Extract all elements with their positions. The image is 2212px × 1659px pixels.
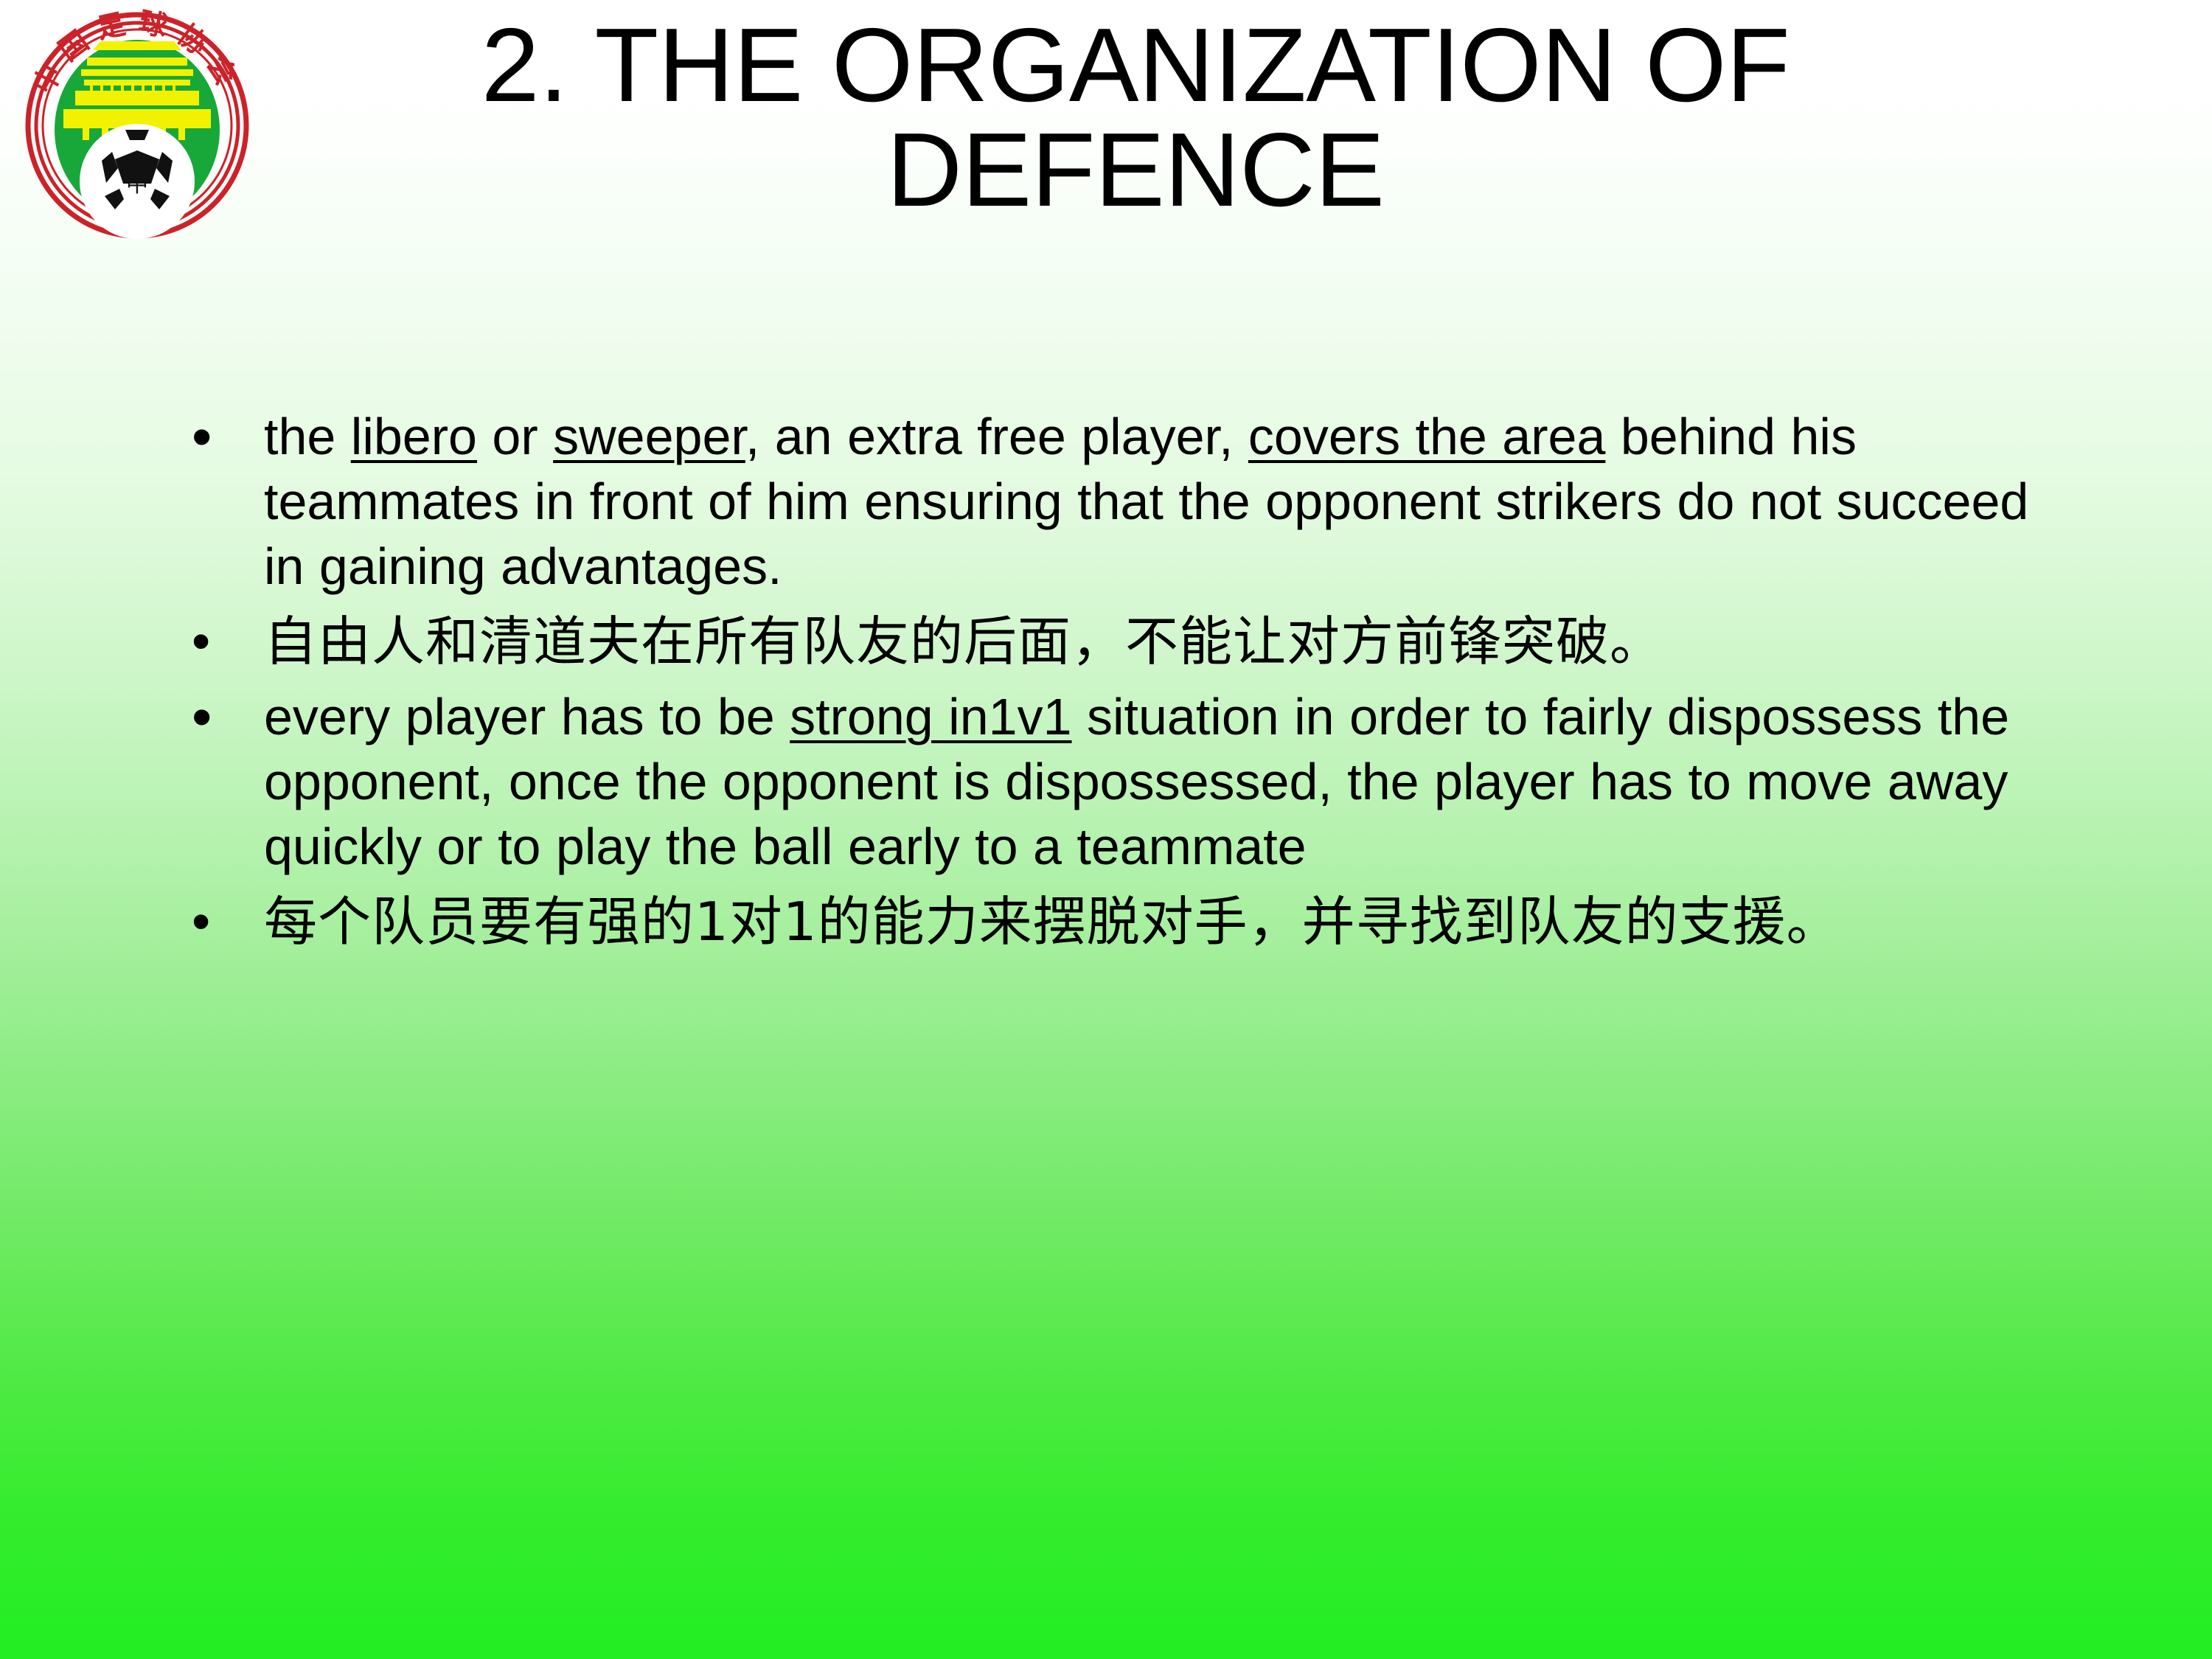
plain-text: 每个队员要有强的1对1的能力来摆脱对手，并寻找到队友的支援。 (264, 891, 1840, 953)
bullet-point-icon: • (181, 684, 264, 749)
list-item: •the libero or sweeper, an extra free pl… (181, 404, 2039, 599)
slide: 中国足球协会 (0, 0, 2212, 1659)
logo-soccer-ball: 中 (80, 124, 195, 239)
plain-text: 自由人和清道夫在所有队友的后面，不能让对方前锋突破。 (264, 611, 1663, 672)
emphasized-text: sweeper (553, 408, 745, 465)
logo-ball-character: 中 (126, 172, 148, 198)
list-item-text: every player has to be strong in1v1 situ… (264, 684, 2039, 879)
emphasized-text: libero (351, 408, 477, 465)
plain-text: or (477, 408, 553, 465)
bullet-point-icon: • (181, 404, 264, 469)
list-item: •每个队员要有强的1对1的能力来摆脱对手，并寻找到队友的支援。 (181, 883, 2039, 960)
list-item-text: 自由人和清道夫在所有队友的后面，不能让对方前锋突破。 (264, 603, 2039, 680)
plain-text: the (264, 408, 351, 465)
bullet-point-icon: • (181, 603, 264, 680)
list-item-text: 每个队员要有强的1对1的能力来摆脱对手，并寻找到队友的支援。 (264, 883, 2039, 960)
plain-text: , an extra free player, (745, 408, 1248, 465)
title-line-2: DEFENCE (221, 118, 2050, 223)
list-item: •自由人和清道夫在所有队友的后面，不能让对方前锋突破。 (181, 603, 2039, 680)
plain-text: every player has to be (264, 688, 790, 745)
page-title: 2. THE ORGANIZATION OF DEFENCE (221, 13, 2050, 223)
list-item-text: the libero or sweeper, an extra free pla… (264, 404, 2039, 599)
bullet-point-icon: • (181, 883, 264, 960)
list-item: •every player has to be strong in1v1 sit… (181, 684, 2039, 879)
emphasized-text: covers the area (1248, 408, 1605, 465)
emphasized-text: strong in1v1 (790, 688, 1071, 745)
title-line-1: 2. THE ORGANIZATION OF (221, 13, 2050, 118)
bullet-list: •the libero or sweeper, an extra free pl… (181, 404, 2039, 964)
chinese-football-association-logo: 中国足球协会 (19, 6, 255, 240)
